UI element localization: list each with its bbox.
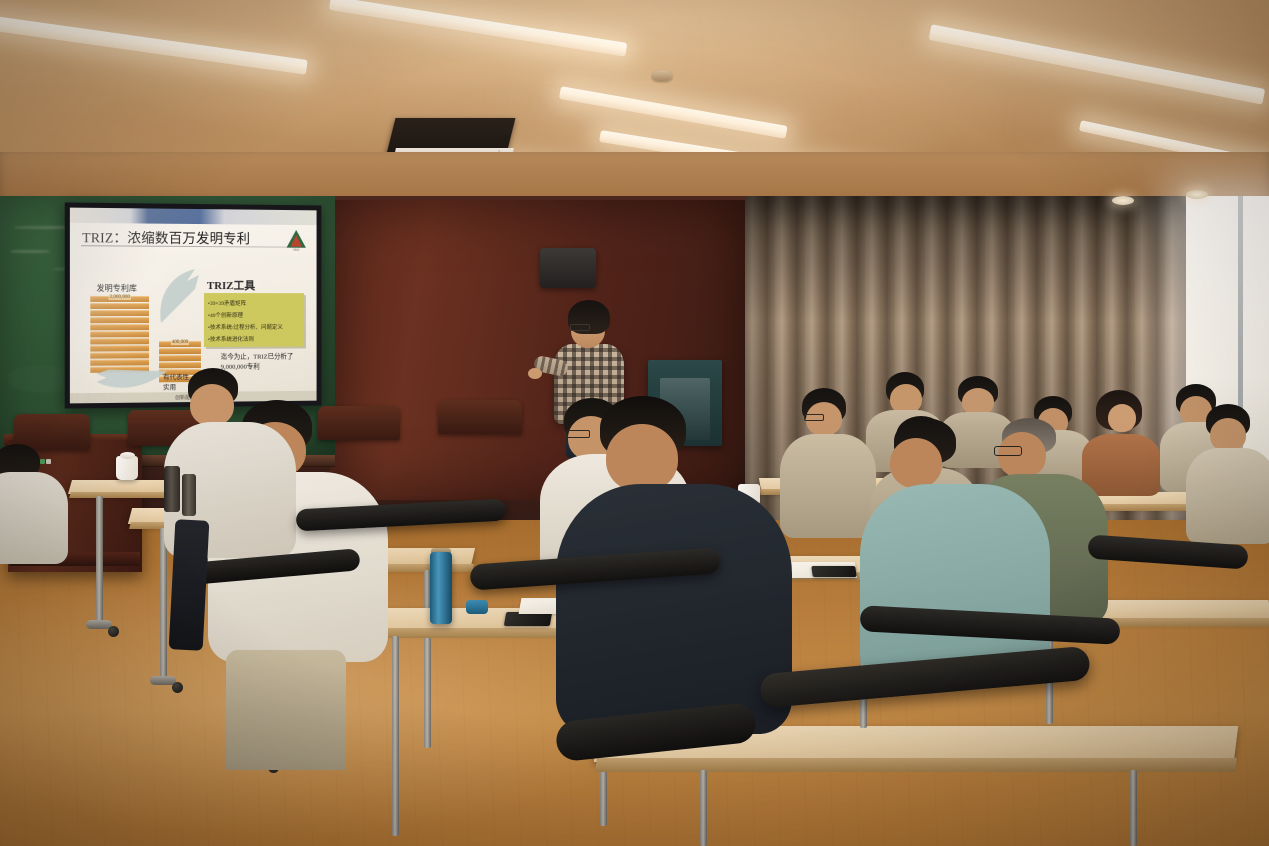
patent-stack-large: 2,000,000	[90, 296, 149, 375]
triangle-logo: TRIZ	[285, 227, 308, 251]
attendee-shirt	[1082, 434, 1160, 496]
draped-jacket	[169, 519, 210, 651]
chair-front-3[interactable]	[318, 406, 400, 440]
attendee-shirt	[556, 484, 792, 734]
arrow-swoosh-top	[155, 265, 201, 327]
slide-footnote: 迄今为止，TRIZ已分析了9,000,000专利	[221, 352, 309, 373]
control-button-5[interactable]	[46, 459, 51, 464]
water-bottle-1[interactable]	[164, 466, 180, 512]
attendee-glasses-icon	[804, 414, 824, 421]
tools-box: •39×39矛盾矩阵 •40个创新原理 •技术系统/过程分析、问题定义 •技术系…	[204, 293, 304, 347]
svg-text:TRIZ: TRIZ	[293, 248, 300, 251]
teacup-lid-1	[120, 452, 135, 459]
teacup-1	[116, 456, 138, 480]
slide-header-band	[70, 208, 317, 226]
attendee-glasses-icon	[566, 430, 590, 438]
blue-thermos[interactable]	[430, 552, 452, 624]
attendee-shirt	[1186, 448, 1269, 544]
wall-speaker	[540, 248, 596, 288]
database-label: 发明专利库	[96, 283, 137, 294]
attendee-head	[1210, 418, 1246, 452]
tools-bullet-2: •技术系统/过程分析、问题定义	[208, 323, 283, 331]
chair-front-4[interactable]	[438, 400, 522, 434]
desk-leg-3	[160, 528, 167, 678]
stack-count-large: 2,000,000	[109, 295, 131, 300]
thermos-lid-on-desk[interactable]	[466, 600, 488, 614]
water-bottle-2[interactable]	[182, 474, 196, 516]
tools-heading: TRIZ工具	[207, 277, 255, 293]
smoke-detector-icon	[652, 70, 672, 81]
tools-bullet-1: •40个创新原理	[208, 311, 243, 319]
desk-leg-1	[96, 496, 103, 624]
desk-leg-9	[700, 770, 707, 846]
attendee-head	[1108, 404, 1136, 432]
presenter-hand	[528, 368, 542, 379]
attendee-head	[190, 384, 234, 426]
attendee-shirt	[0, 472, 68, 564]
notebook-1[interactable]	[519, 598, 562, 614]
attendee-head	[606, 424, 678, 492]
tools-bullet-0: •39×39矛盾矩阵	[208, 299, 246, 307]
desk-leg-7	[392, 636, 399, 836]
slide-title: TRIZ：浓缩数百万发明专利	[82, 226, 281, 248]
bottom-label-1: 有代表性	[163, 374, 189, 381]
attendee-glasses-icon	[994, 446, 1022, 456]
phone-2[interactable]	[504, 612, 552, 626]
phone-3[interactable]	[811, 566, 857, 577]
desk-caster-wheel-2	[172, 682, 183, 693]
bottom-label-2: 实用	[163, 384, 176, 391]
classroom-photo: TRIZ：浓缩数百万发明专利 TRIZ 发明专利库	[0, 0, 1269, 846]
tools-bullet-3: •技术系统进化法则	[208, 335, 254, 343]
attendee-shirt	[780, 434, 876, 538]
arrow-swoosh-bottom	[92, 367, 171, 394]
desk-caster-wheel-1	[108, 626, 119, 637]
downlight-2	[1186, 190, 1208, 199]
desk-foreground-right-edge	[595, 758, 1237, 772]
control-button-4[interactable]	[40, 459, 45, 464]
attendee-trousers	[226, 650, 346, 770]
stack-count-small: 400,000	[171, 340, 189, 345]
downlight-1	[1112, 196, 1134, 205]
attendee-head	[890, 438, 942, 488]
desk-leg-10	[1130, 770, 1137, 846]
slide-title-rule	[81, 245, 295, 248]
presenter-glasses	[570, 324, 590, 331]
slide-bottom-labels: 有代表性 实用	[163, 373, 189, 393]
